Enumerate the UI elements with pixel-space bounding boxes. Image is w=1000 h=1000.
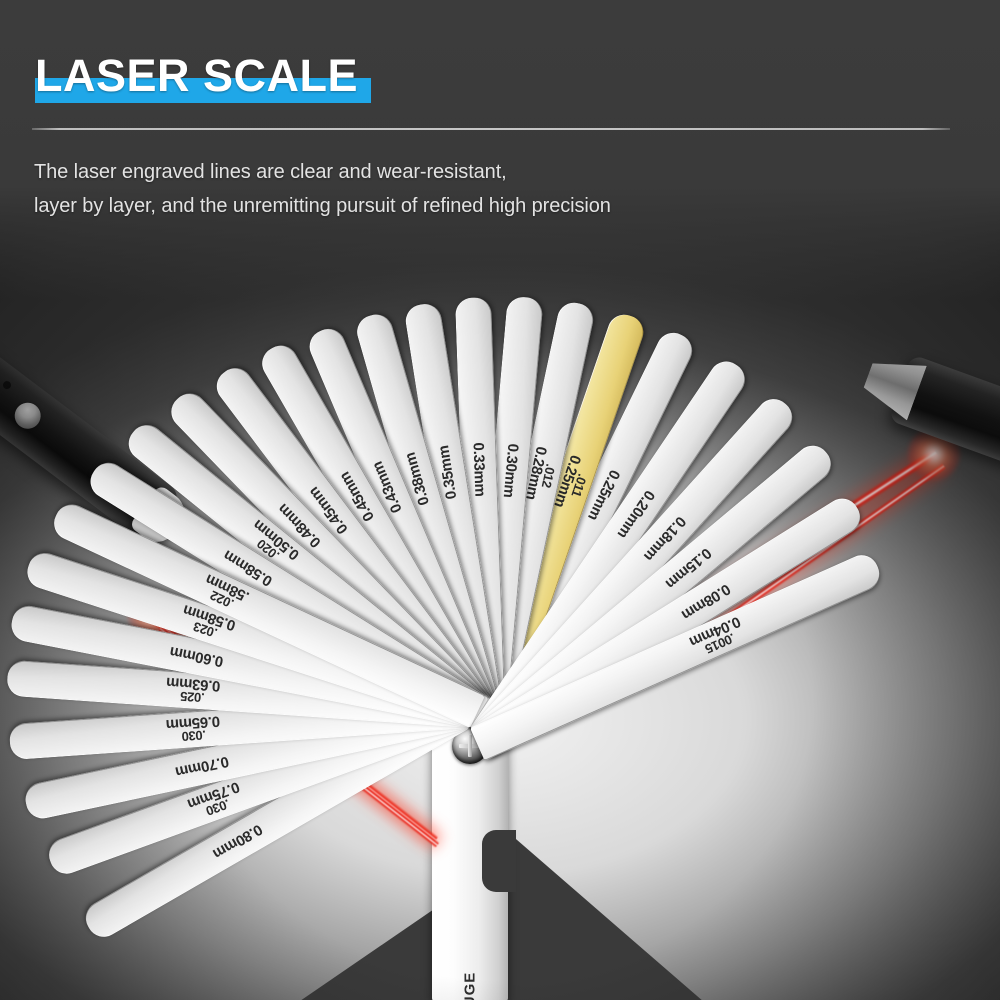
product-banner: 0.80mm.0300.75mm0.70mm.0300.65mm.0250.63…	[0, 0, 1000, 1000]
subtitle: The laser engraved lines are clear and w…	[34, 155, 794, 223]
gauge-blade-label: 0.35mm	[437, 445, 458, 500]
blade-metric-value: 0.60mm	[168, 643, 224, 670]
blade-imperial-value: .025	[165, 689, 220, 706]
gauge-blade-label: .0300.65mm	[166, 714, 222, 744]
header-divider	[32, 128, 950, 130]
blade-metric-value: 0.30mm	[500, 443, 522, 498]
subtitle-line-1: The laser engraved lines are clear and w…	[34, 155, 794, 189]
gauge-blade-label: 0.70mm	[174, 755, 230, 779]
handle-brand-text: UGE	[462, 956, 479, 1000]
blade-imperial-value: .030	[190, 792, 245, 823]
gauge-blade-label: 0.80mm	[211, 822, 264, 860]
blade-metric-value: 0.70mm	[174, 753, 230, 781]
page-title: LASER SCALE	[35, 48, 358, 106]
blade-metric-value: 0.65mm	[165, 712, 220, 733]
gauge-blade-label: 0.30mm	[502, 443, 520, 498]
gauge-blade-label: 0.60mm	[169, 645, 225, 668]
gauge-blade-label: 0.33mm	[472, 442, 487, 496]
header-backdrop	[0, 0, 1000, 300]
handle-notch	[482, 830, 516, 892]
blade-metric-value: 0.80mm	[210, 821, 265, 863]
blade-imperial-value: .0015	[693, 626, 748, 660]
title-text: LASER SCALE	[35, 48, 358, 104]
gauge-blade-label: .0250.63mm	[165, 676, 221, 706]
blade-metric-value: 0.33mm	[470, 442, 489, 497]
blade-imperial-value: .030	[166, 727, 221, 744]
subtitle-line-2: layer by layer, and the unremitting purs…	[34, 189, 794, 223]
